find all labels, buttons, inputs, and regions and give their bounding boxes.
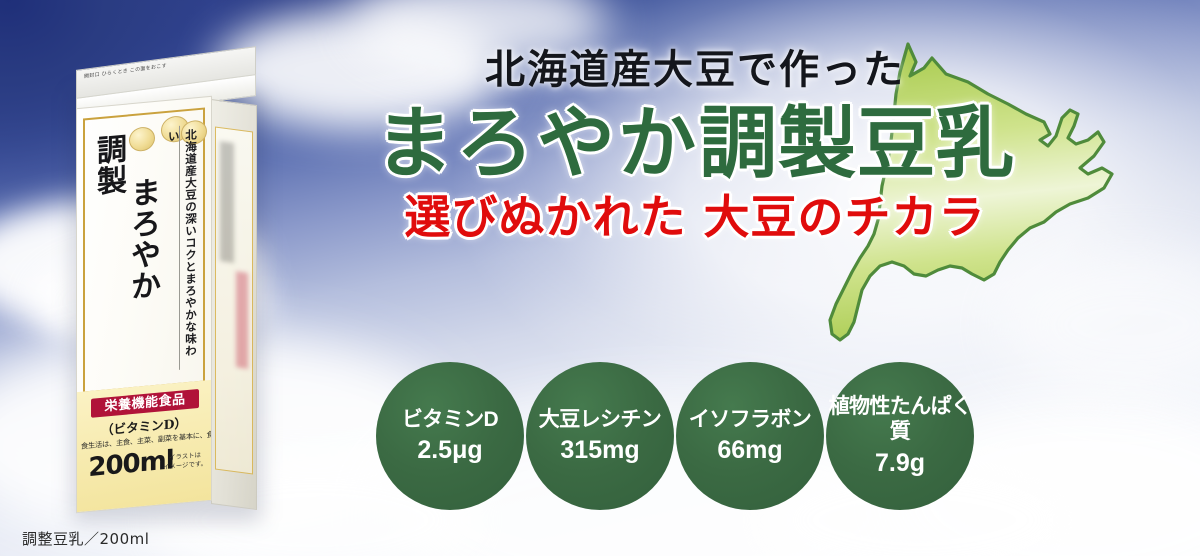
headline-block: 北海道産大豆で作った まろやか調製豆乳 選びぬかれた 大豆のチカラ [300, 48, 1090, 243]
product-caption: 調整豆乳／200ml [22, 528, 149, 549]
nutrient-bubble-group: ビタミンD 2.5μg 大豆レシチン 315mg イソフラボン 66mg 植物性… [376, 362, 976, 522]
nutrient-bubble: イソフラボン 66mg [676, 362, 824, 510]
title-part2: 調製豆乳 [699, 98, 1015, 189]
nutrient-bubble: ビタミンD 2.5μg [376, 362, 524, 510]
product-package-photo: 開封口 ひらくとき この面をおこす 調製 まろやか 北海道産大豆の深いコクとまろ… [62, 40, 287, 510]
nutrient-name: ビタミンD [402, 408, 498, 432]
package-title-line2: まろやか [127, 176, 157, 389]
nutrient-bubble: 大豆レシチン 315mg [526, 362, 674, 510]
package-side-ink-red [236, 271, 248, 369]
package-bottom-band: 栄養機能食品 （ビタミンD） 食生活は、主食、主菜、副菜を基本に、食事のバランス… [77, 380, 211, 512]
page-title: まろやか調製豆乳 [300, 102, 1090, 186]
nutrient-name: イソフラボン [689, 408, 811, 432]
subtitle-text: 選びぬかれた 大豆のチカラ [300, 192, 1090, 243]
package-side-face [211, 99, 257, 510]
nutrient-name: 大豆レシチン [539, 408, 661, 432]
nutrient-value: 66mg [717, 436, 782, 464]
nutrient-value: 2.5μg [417, 436, 482, 464]
package-tagline: 北海道産大豆の深いコクとまろやかな味わい [165, 128, 200, 361]
kicker-text: 北海道産大豆で作った [300, 48, 1090, 92]
package-title-line1: 調製 [93, 133, 123, 386]
package-front-face: 調製 まろやか 北海道産大豆の深いコクとまろやかな味わい ★★★ 明治の牛乳屋さ… [76, 96, 212, 513]
nutrient-name: 植物性たんぱく質 [826, 395, 974, 445]
banner-stage: 北海道産大豆で作った まろやか調製豆乳 選びぬかれた 大豆のチカラ ビタミンD … [0, 0, 1200, 556]
nutrient-value: 315mg [560, 436, 639, 464]
title-part1: まろやか [375, 98, 699, 189]
illustration-note: イラストはイメージです。 [163, 450, 207, 473]
package-side-ink [220, 141, 234, 263]
nutrient-value: 7.9g [875, 449, 925, 477]
nutrient-bubble: 植物性たんぱく質 7.9g [826, 362, 974, 510]
